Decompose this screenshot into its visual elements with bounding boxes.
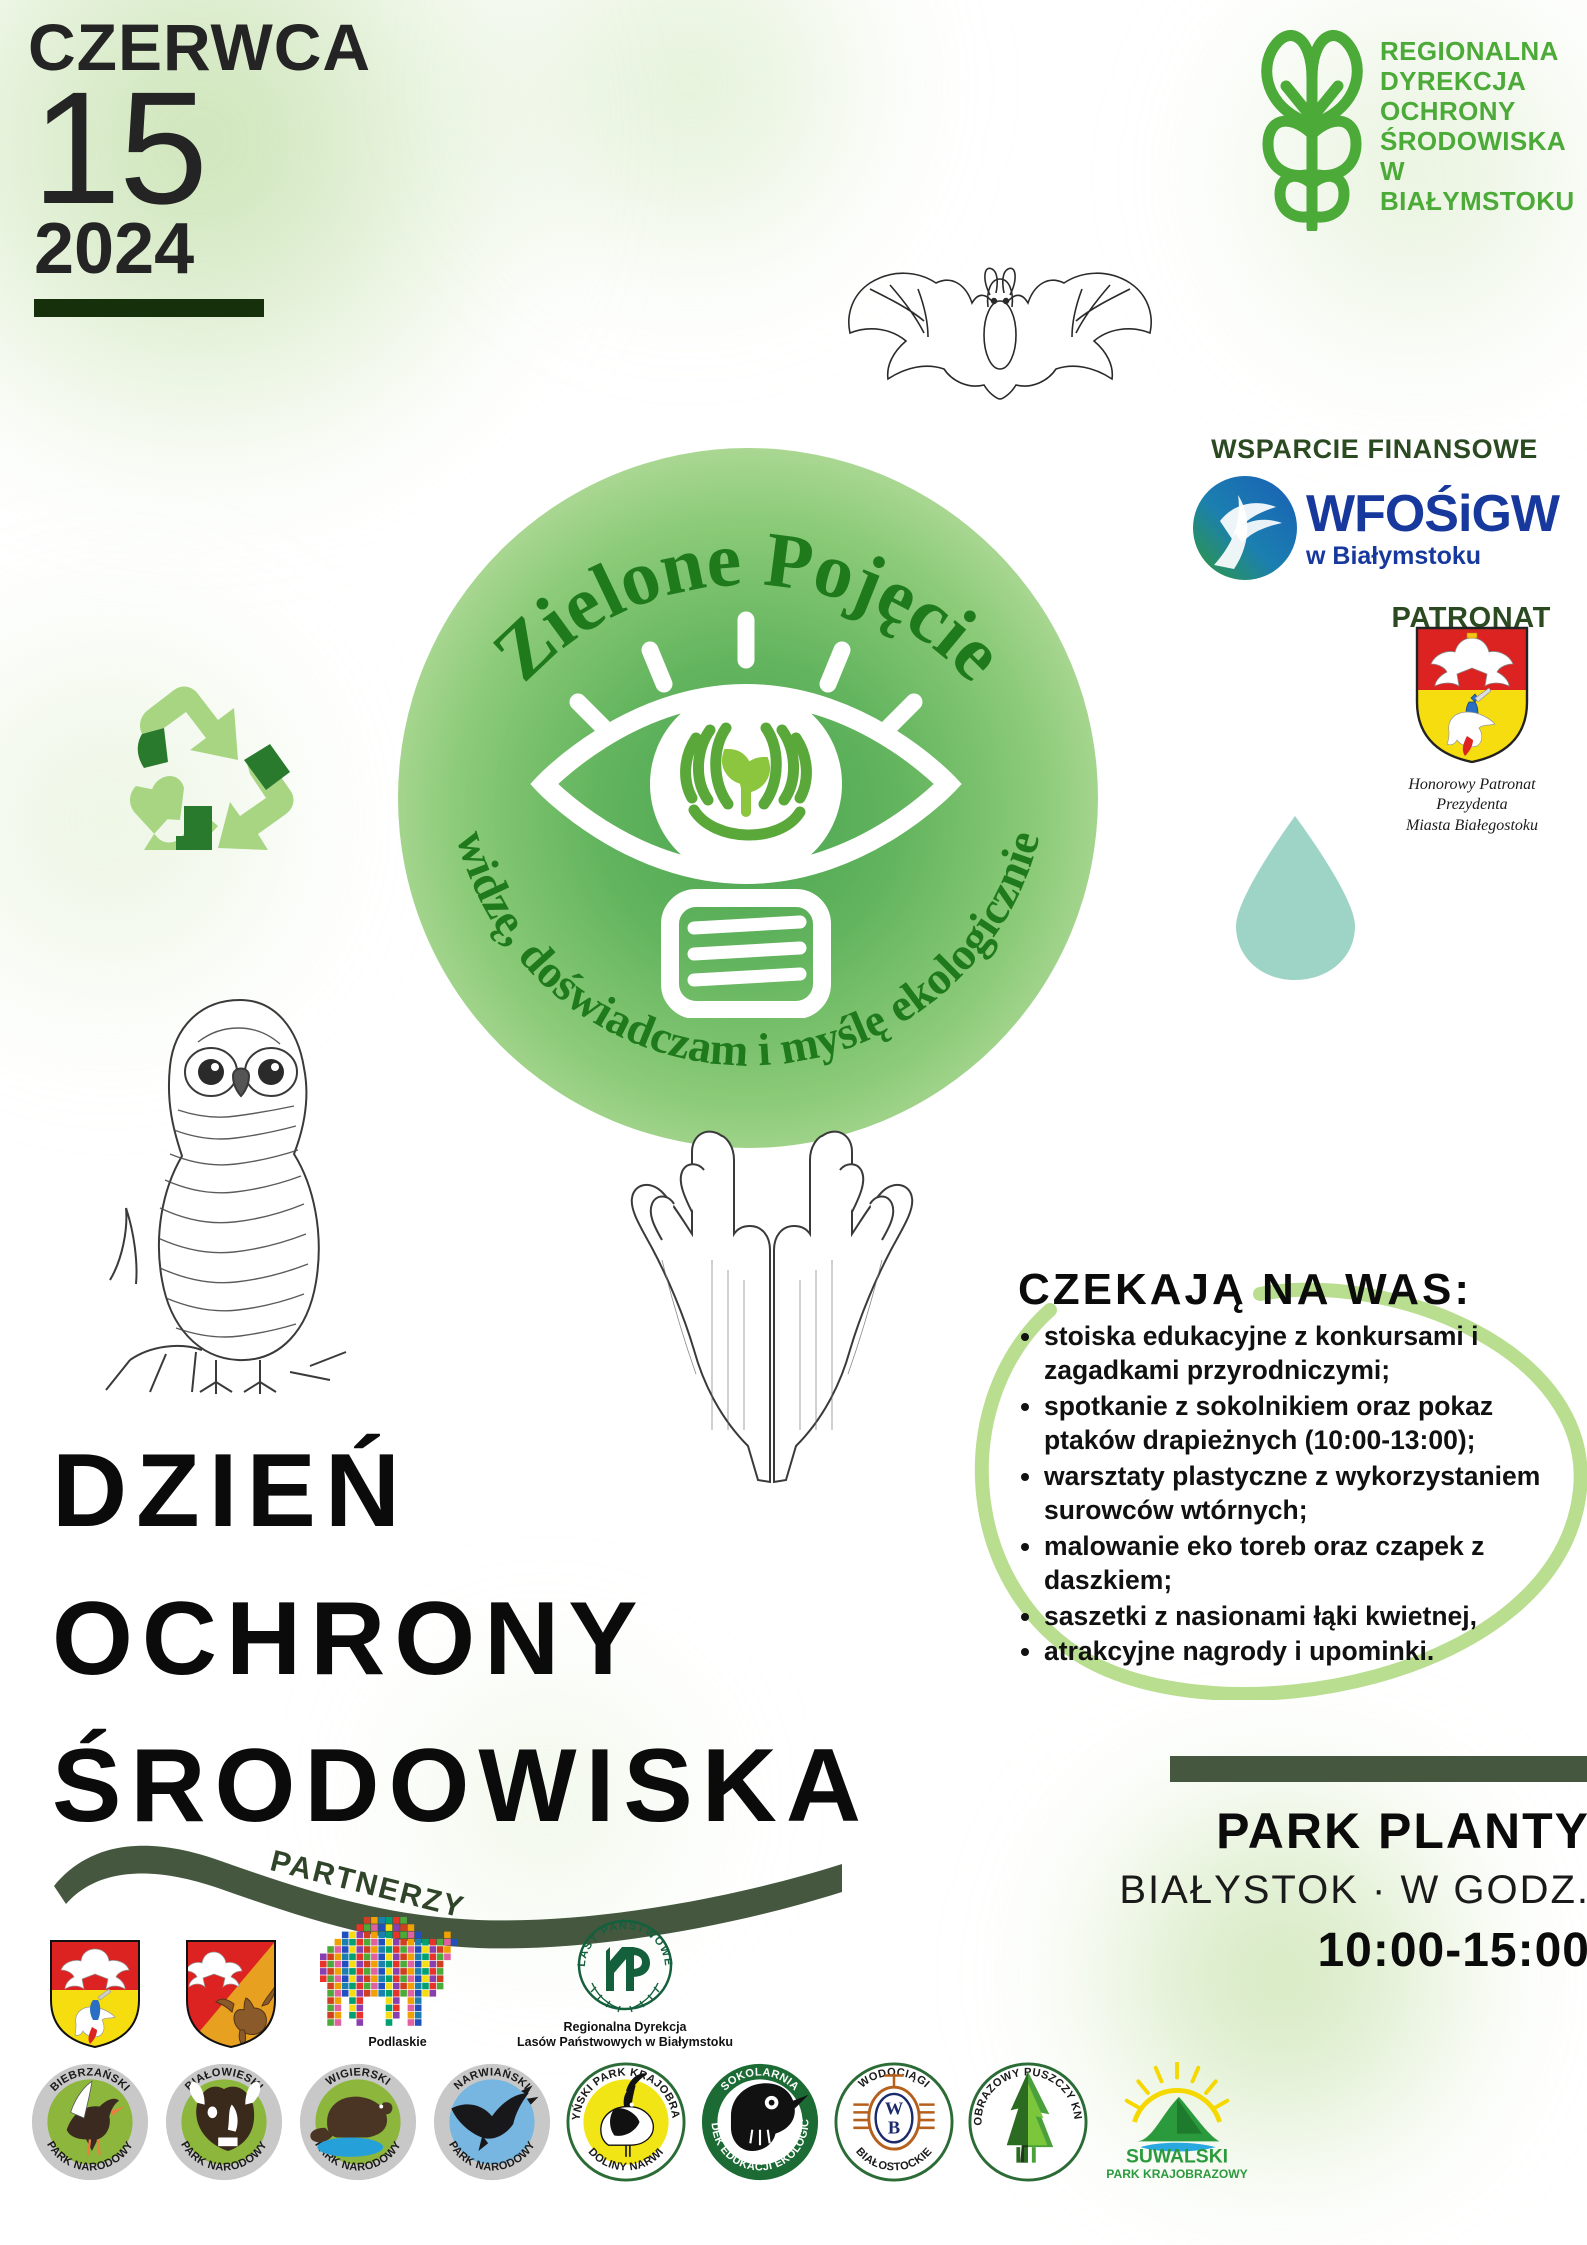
bat-illustration (840, 255, 1160, 420)
patronage-block: Honorowy Patronat Prezydenta Miasta Biał… (1372, 624, 1572, 836)
list-item: atrakcyjne nagrody i upominki. (1044, 1634, 1578, 1668)
park-krajobrazowy-puszczy-knyszynskiej-logo: PARK KRAJOBRAZOWY PUSZCZY KNYSZYŃSKIEJ (968, 2062, 1088, 2182)
svg-text:SUWALSKI: SUWALSKI (1126, 2146, 1228, 2168)
leaf-icon (1258, 16, 1366, 236)
list-item: warsztaty plastyczne z wykorzystaniem su… (1044, 1459, 1578, 1528)
event-date: CZERWCA 15 2024 (28, 14, 358, 317)
podlaskie-bison-logo-icon (320, 1917, 475, 2032)
list-item: spotkanie z sokolnikiem oraz pokaz ptakó… (1044, 1389, 1578, 1458)
partner-logo-podlaskie-coat (184, 1938, 278, 2050)
list-item: malowanie eko toreb oraz czapek z daszki… (1044, 1529, 1578, 1598)
rdos-line: ŚRODOWISKA (1380, 126, 1587, 156)
venue-rule (1170, 1756, 1587, 1782)
financial-support-block: WSPARCIE FINANSOWE WFOŚiGW (1162, 434, 1587, 635)
suwalski-park-krajobrazowy-logo: SUWALSKI PARK KRAJOBRAZOWY (1102, 2062, 1252, 2182)
patronage-caption: Honorowy Patronat Prezydenta Miasta Biał… (1372, 775, 1572, 836)
water-droplet-icon (1228, 810, 1363, 990)
activities-list: stoiska edukacyjne z konkursami i zagadk… (1018, 1319, 1578, 1668)
venue-city-line: BIAŁYSTOK · W GODZ. (1090, 1868, 1587, 1913)
rdos-line: DYREKCJA (1380, 66, 1587, 96)
rdos-line: REGIONALNA (1380, 36, 1587, 66)
wodociagi-bialostockie-logo: WODOCIĄGI BIAŁOSTOCKIE WB (834, 2062, 954, 2182)
recycling-arrows-icon (118, 668, 308, 858)
page-title: DZIEŃ OCHRONY ŚRODOWISKA (52, 1418, 1052, 1861)
activities-block: CZEKAJĄ NA WAS: stoiska edukacyjne z kon… (1018, 1265, 1578, 1669)
lasy-panstwowe-logo-icon: LASY PAŃSTWOWE (570, 1917, 680, 2017)
bialystok-coat-of-arms-icon (1413, 751, 1531, 768)
support-title: WSPARCIE FINANSOWE (1162, 434, 1587, 465)
headline-line-2: OCHRONY (52, 1566, 1052, 1714)
venue-time: 10:00-15:00 (1090, 1923, 1587, 1978)
patronage-caption-line: Prezydenta (1372, 795, 1572, 815)
eye-with-hands-and-sprout-icon (518, 598, 978, 1018)
partner-caption: Podlaskie (368, 2035, 426, 2050)
list-item: stoiska edukacyjne z konkursami i zagadk… (1044, 1319, 1578, 1388)
wfosigw-mark-icon (1190, 473, 1300, 588)
wfosigw-name: WFOŚiGW (1306, 490, 1559, 539)
activities-heading: CZEKAJĄ NA WAS: (1018, 1265, 1578, 1315)
rdos-logo: REGIONALNA DYREKCJA OCHRONY ŚRODOWISKA W… (1258, 16, 1587, 236)
biebrzanski-park-narodowy-logo: BIEBRZAŃSKI PARK NARODOWY (30, 2062, 150, 2182)
event-emblem: Zielone Pojęcie widzę, doświadczam i myś… (398, 448, 1098, 1148)
rdos-line: OCHRONY (1380, 96, 1587, 126)
wigierski-park-narodowy-logo: WIGIERSKI PARK NARODOWY (298, 2062, 418, 2182)
bottom-logos-row: BIEBRZAŃSKI PARK NARODOWY BIAŁOWIESKI (30, 2062, 1570, 2182)
narwianski-park-narodowy-logo: NARWIAŃSKI PARK NARODOWY (432, 2062, 552, 2182)
owl-illustration (70, 980, 400, 1405)
wfosigw-sub: w Białymstoku (1306, 542, 1559, 571)
partner-logos-row: Podlaskie LASY PAŃSTWOWE Regionalna Dyre… (48, 1900, 848, 2050)
svg-text:W: W (885, 2098, 904, 2118)
date-underline-rule (34, 299, 264, 317)
poster-canvas: CZERWCA 15 2024 REGIONALNA DYR (0, 0, 1587, 2245)
date-day: 15 (32, 74, 358, 221)
partner-logo-lasy-panstwowe: LASY PAŃSTWOWE Regionalna DyrekcjaLasów … (517, 1917, 733, 2050)
patronage-caption-line: Miasta Białegostoku (1372, 816, 1572, 836)
patronage-caption-line: Honorowy Patronat (1372, 775, 1572, 795)
bialystok-city-coat-of-arms-icon (48, 1938, 142, 2050)
podlaskie-voivodeship-coat-of-arms-icon (184, 1938, 278, 2050)
lomzynski-park-krajobrazowy-logo: ŁOMŻYŃSKI PARK KRAJOBRAZOWY DOLINY NARWI (566, 2062, 686, 2182)
sokolarnia-logo: SOKOLARNIA OŚRODEK EDUKACJI EKOLOGICZNEJ (700, 2062, 820, 2182)
headline-line-1: DZIEŃ (52, 1418, 1052, 1566)
svg-text:PARK KRAJOBRAZOWY: PARK KRAJOBRAZOWY (1106, 2167, 1247, 2181)
rdos-line: W BIAŁYMSTOKU (1380, 156, 1587, 216)
rdos-logo-text: REGIONALNA DYREKCJA OCHRONY ŚRODOWISKA W… (1380, 36, 1587, 217)
partner-logo-bialystok (48, 1938, 142, 2050)
venue-name: PARK PLANTY (1090, 1802, 1587, 1860)
svg-text:B: B (888, 2118, 900, 2138)
list-item: saszetki z nasionami łąki kwietnej, (1044, 1599, 1578, 1633)
bialowieski-park-narodowy-logo: BIAŁOWIESKI PARK NARODOWY (164, 2062, 284, 2182)
venue-block: PARK PLANTY BIAŁYSTOK · W GODZ. 10:00-15… (1090, 1756, 1587, 1978)
partner-caption: Regionalna DyrekcjaLasów Państwowych w B… (517, 2020, 733, 2050)
partner-logo-podlaskie: Podlaskie (320, 1917, 475, 2050)
